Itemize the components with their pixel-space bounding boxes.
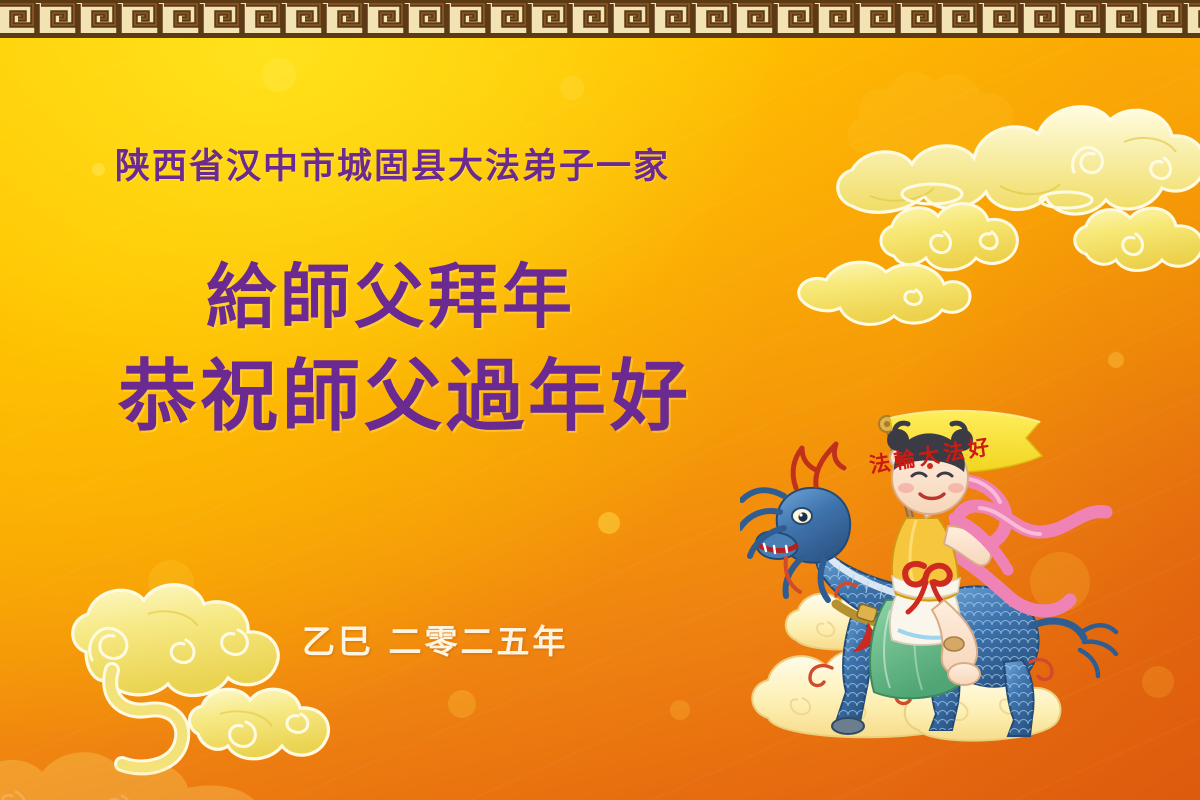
top-border-meander: [0, 0, 1200, 38]
greeting-block: 給師父拜年 恭祝師父過年好: [118, 262, 692, 436]
sender-line: 陕西省汉中市城固县大法弟子一家: [115, 138, 670, 189]
new-year-illustration: [740, 400, 1140, 800]
greeting-card: 陕西省汉中市城固县大法弟子一家 給師父拜年 恭祝師父過年好 乙巳 二零二五年: [0, 0, 1200, 800]
greek-key-icon: [0, 0, 1200, 33]
greeting-line-1: 給師父拜年: [206, 262, 692, 332]
date-line: 乙巳 二零二五年: [302, 615, 569, 663]
illustration-child-riding-dragon: [740, 400, 1140, 800]
greeting-line-2: 恭祝師父過年好: [118, 358, 692, 436]
